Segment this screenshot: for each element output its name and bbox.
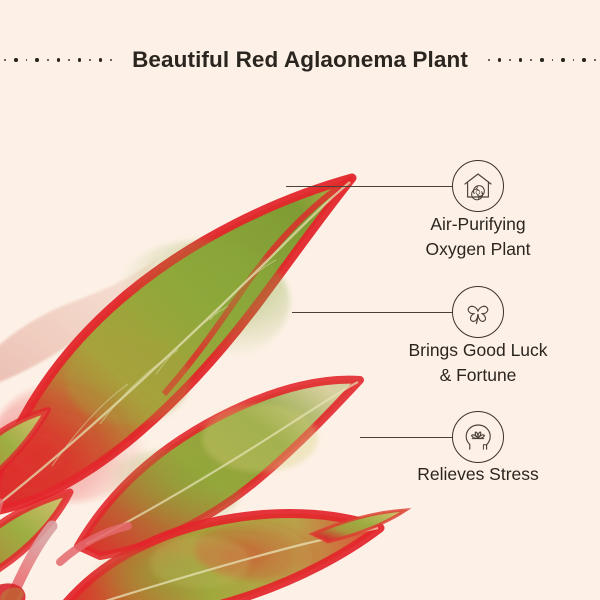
divider-dot <box>519 58 522 61</box>
feature-label-1: Air-Purifying Oxygen Plant <box>328 212 600 263</box>
divider-dot <box>35 58 38 61</box>
divider-dot <box>509 59 511 61</box>
feature-label-2: Brings Good Luck & Fortune <box>328 338 600 389</box>
svg-text:O: O <box>475 189 480 196</box>
four-leaf-clover-icon[interactable] <box>452 286 504 338</box>
divider-dot <box>561 58 564 61</box>
dotted-divider-left <box>0 55 116 65</box>
connector-line-1 <box>286 186 452 187</box>
divider-dot <box>582 58 585 61</box>
divider-dot <box>89 59 91 61</box>
divider-dot <box>540 58 543 61</box>
divider-dot <box>78 58 81 61</box>
header: Beautiful Red Aglaonema Plant <box>0 38 600 82</box>
dotted-divider-right <box>484 55 600 65</box>
divider-dot <box>530 59 532 61</box>
divider-dot <box>57 58 60 61</box>
divider-dot <box>26 59 28 61</box>
feature-label-3: Relieves Stress <box>328 462 600 487</box>
divider-dot <box>498 58 501 61</box>
head-lotus-icon[interactable] <box>452 411 504 463</box>
divider-dot <box>594 59 596 61</box>
house-oxygen-icon[interactable]: O 2 <box>452 160 504 212</box>
divider-dot <box>573 59 575 61</box>
divider-dot <box>47 59 49 61</box>
divider-dot <box>488 59 490 61</box>
divider-dot <box>99 58 102 61</box>
divider-dot <box>110 59 112 61</box>
divider-dot <box>14 58 17 61</box>
page-title: Beautiful Red Aglaonema Plant <box>116 49 484 72</box>
divider-dot <box>68 59 70 61</box>
connector-line-2 <box>292 312 452 313</box>
connector-line-3 <box>360 437 452 438</box>
divider-dot <box>552 59 554 61</box>
poster-canvas: Beautiful Red Aglaonema Plant O 2 Air-Pu… <box>0 0 600 600</box>
divider-dot <box>4 59 6 61</box>
